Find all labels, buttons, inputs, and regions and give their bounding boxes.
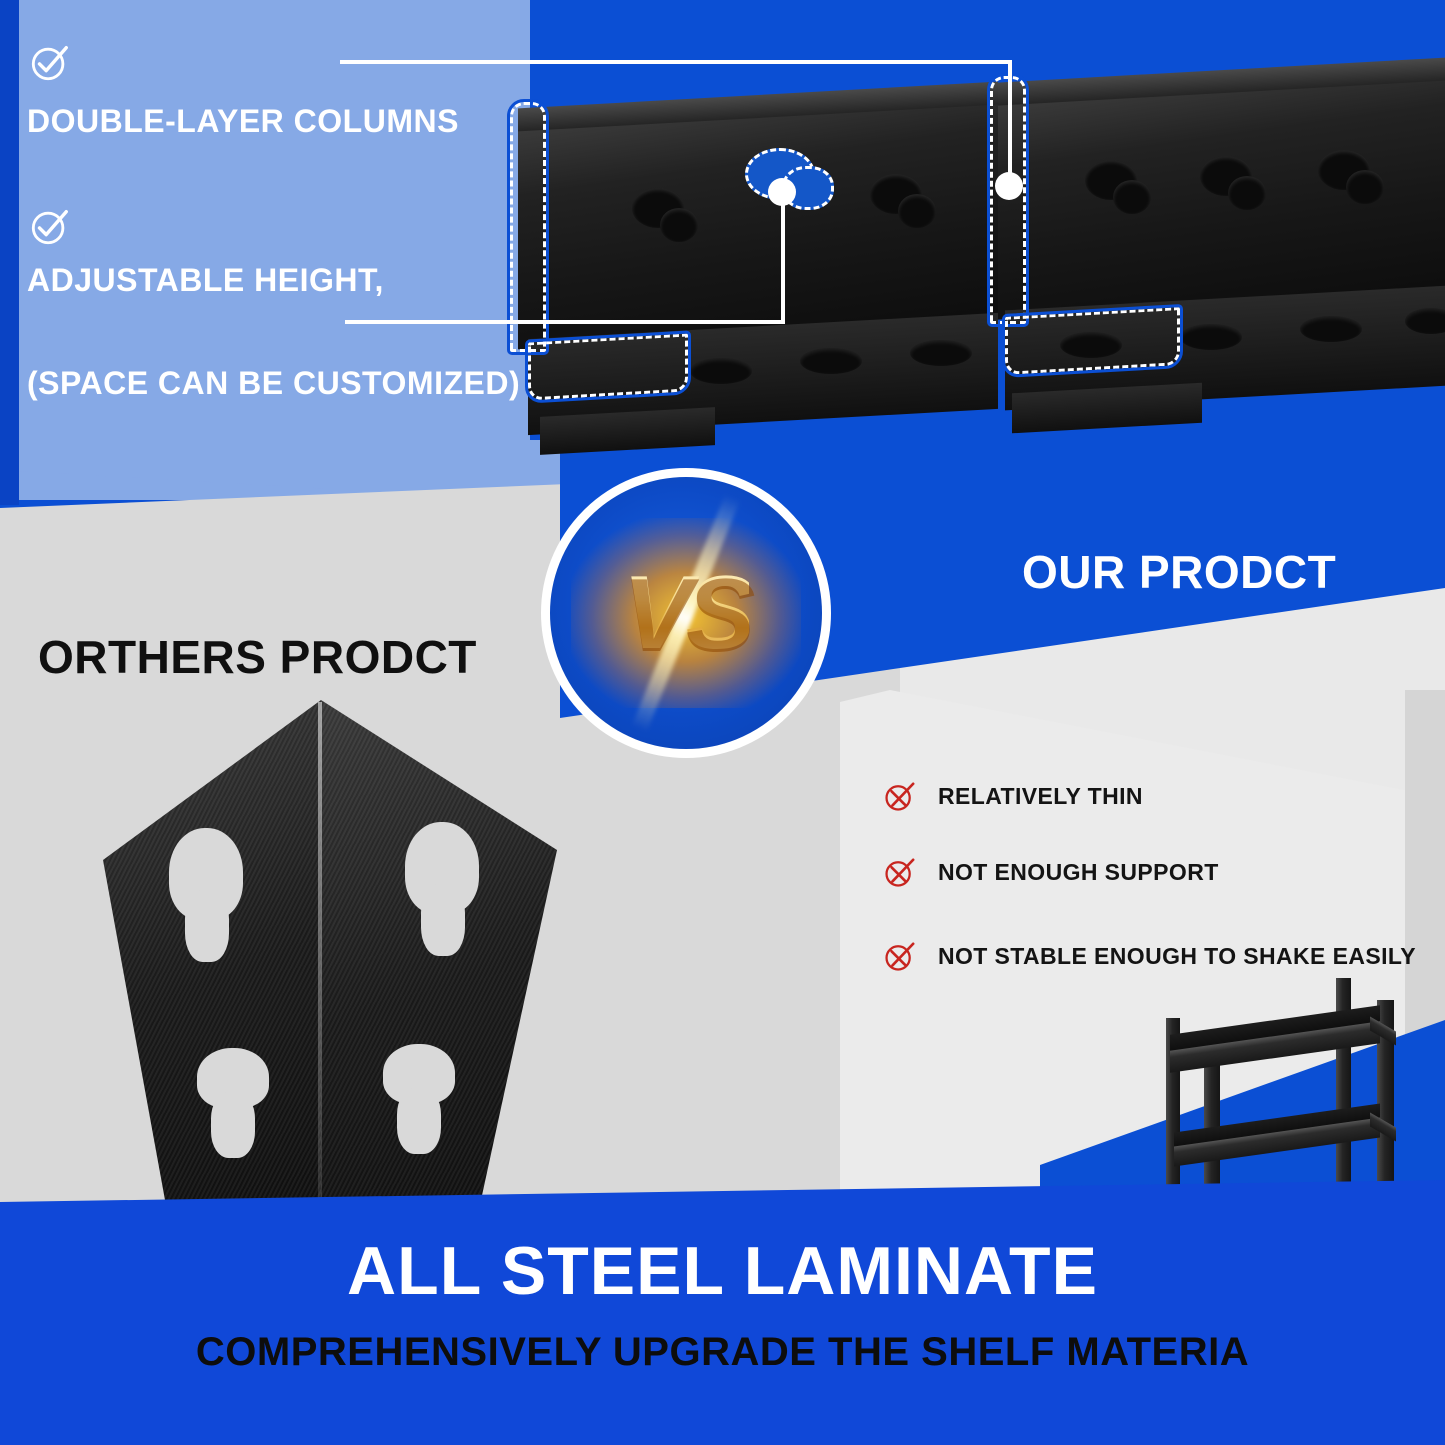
feature-label-3: (SPACE CAN BE CUSTOMIZED) xyxy=(27,365,520,402)
double-layer-highlight-left-flange xyxy=(528,334,688,401)
callout-line-bottom xyxy=(345,320,785,324)
con-row-3: NOT STABLE ENOUGH TO SHAKE EASILY xyxy=(884,940,1416,972)
others-product-title: ORTHERS PRODCT xyxy=(38,630,477,684)
con-label-1: RELATIVELY THIN xyxy=(938,783,1143,810)
banner-subtitle: COMPREHENSIVELY UPGRADE THE SHELF MATERI… xyxy=(0,1330,1445,1375)
x-circle-icon xyxy=(884,856,916,888)
steel-beam-photo xyxy=(500,40,1445,510)
corner-bracket-photo xyxy=(85,700,555,1200)
double-layer-highlight-left xyxy=(510,102,546,352)
con-label-3: NOT STABLE ENOUGH TO SHAKE EASILY xyxy=(938,943,1416,970)
callout-line-top-vertical xyxy=(1008,60,1012,185)
callout-line-bottom-vertical xyxy=(781,190,785,324)
check-circle-icon xyxy=(29,206,71,248)
top-left-blue-panel xyxy=(18,0,530,500)
con-row-2: NOT ENOUGH SUPPORT xyxy=(884,856,1219,888)
bottom-banner xyxy=(0,1180,1445,1445)
callout-dot-bottom xyxy=(768,178,796,206)
infographic-canvas: DOUBLE-LAYER COLUMNS ADJUSTABLE HEIGHT, … xyxy=(0,0,1445,1445)
callout-dot-top xyxy=(995,172,1023,200)
double-layer-highlight-right-flange xyxy=(1005,307,1180,375)
callout-line-top xyxy=(340,60,1012,64)
vs-badge: VS xyxy=(541,468,831,758)
con-row-1: RELATIVELY THIN xyxy=(884,780,1143,812)
vs-label: VS xyxy=(623,554,750,673)
our-product-title: OUR PRODCT xyxy=(1022,545,1336,599)
left-accent-strip xyxy=(0,0,19,505)
feature-label-1: DOUBLE-LAYER COLUMNS xyxy=(27,103,459,140)
check-circle-icon xyxy=(29,42,71,84)
feature-label-2: ADJUSTABLE HEIGHT, xyxy=(27,262,384,299)
x-circle-icon xyxy=(884,780,916,812)
banner-title: ALL STEEL LAMINATE xyxy=(0,1232,1445,1310)
x-circle-icon xyxy=(884,940,916,972)
con-label-2: NOT ENOUGH SUPPORT xyxy=(938,859,1219,886)
